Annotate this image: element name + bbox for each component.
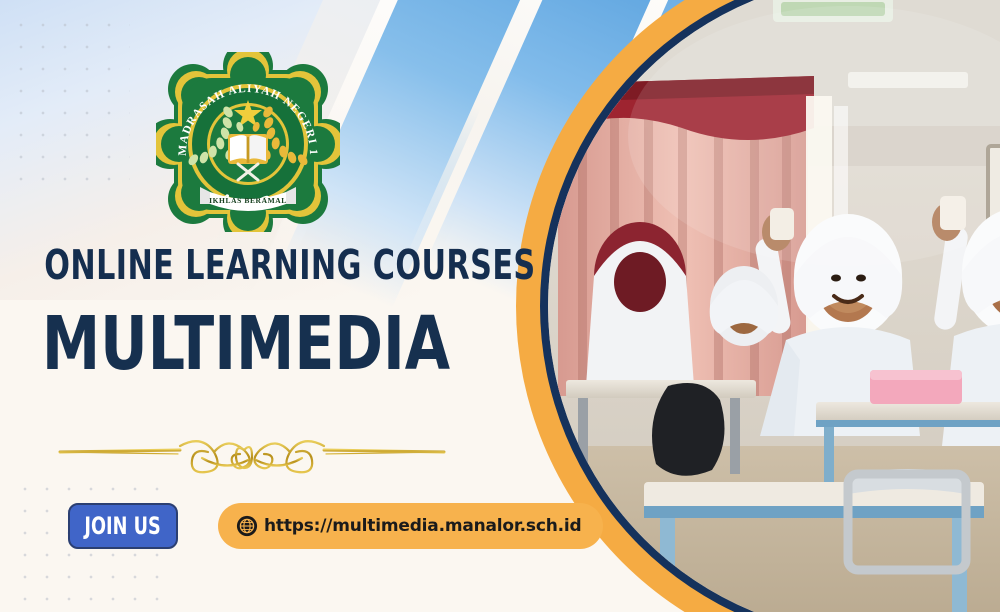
school-logo: MADRASAH ALIYAH NEGERI 1 ALOR	[156, 52, 340, 232]
title-block: ONLINE LEARNING COURSES MULTIMEDIA	[0, 244, 492, 383]
logo-ribbon-text: IKHLAS BERAMAL	[209, 196, 287, 205]
website-url-text: https://multimedia.manalor.sch.id	[264, 516, 581, 536]
globe-icon	[236, 515, 258, 537]
poster-canvas: MADRASAH ALIYAH NEGERI 1 ALOR	[0, 0, 1000, 612]
ornamental-divider	[52, 424, 452, 480]
page-kicker: ONLINE LEARNING COURSES	[44, 244, 447, 287]
dot-grid-top-left	[10, 14, 130, 194]
join-us-button[interactable]: JOIN US	[68, 503, 178, 549]
open-book-icon	[228, 134, 268, 164]
website-url-pill[interactable]: https://multimedia.manalor.sch.id	[218, 503, 603, 549]
join-us-label: JOIN US	[85, 512, 161, 540]
cta-group[interactable]: https://multimedia.manalor.sch.id JOIN U…	[68, 503, 178, 549]
page-title: MULTIMEDIA	[30, 305, 463, 383]
